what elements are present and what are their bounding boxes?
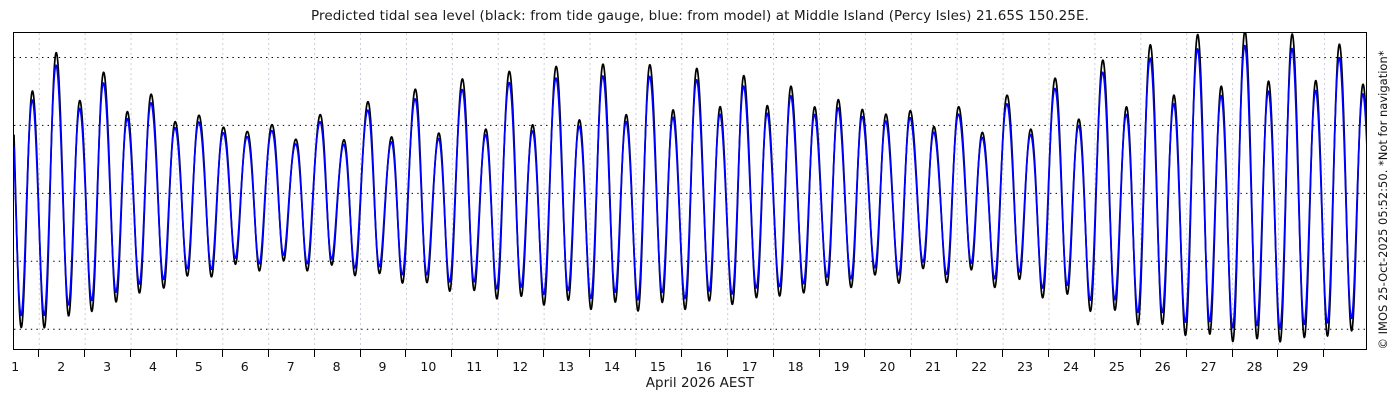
x-tick-mark xyxy=(956,350,957,357)
x-tick-label: 11 xyxy=(466,359,482,374)
x-tick-label: 4 xyxy=(149,359,157,374)
x-tick-mark xyxy=(635,350,636,357)
x-tick-mark xyxy=(1002,350,1003,357)
x-tick-mark xyxy=(1140,350,1141,357)
x-tick-label: 6 xyxy=(241,359,249,374)
x-tick-mark xyxy=(864,350,865,357)
x-tick-mark xyxy=(1323,350,1324,357)
x-tick-mark xyxy=(84,350,85,357)
x-tick-mark xyxy=(589,350,590,357)
tide-series-svg xyxy=(14,33,1366,349)
x-axis-title: April 2026 AEST xyxy=(0,375,1400,391)
plot-frame xyxy=(13,32,1367,350)
x-tick-mark xyxy=(543,350,544,357)
x-tick-label: 28 xyxy=(1247,359,1263,374)
x-tick-mark xyxy=(1094,350,1095,357)
x-tick-label: 5 xyxy=(195,359,203,374)
x-tick-label: 14 xyxy=(604,359,620,374)
x-tick-label: 12 xyxy=(512,359,528,374)
x-tick-label: 24 xyxy=(1063,359,1079,374)
x-tick-mark xyxy=(38,350,39,357)
x-tick-label: 3 xyxy=(103,359,111,374)
x-tick-mark xyxy=(268,350,269,357)
x-tick-label: 21 xyxy=(925,359,941,374)
copyright-notice: © IMOS 25-Oct-2025 05:52:50. *Not for na… xyxy=(1376,51,1390,350)
x-tick-mark xyxy=(360,350,361,357)
x-tick-label: 25 xyxy=(1109,359,1125,374)
x-tick-label: 15 xyxy=(650,359,666,374)
x-tick-label: 26 xyxy=(1155,359,1171,374)
x-tick-mark xyxy=(130,350,131,357)
x-tick-mark xyxy=(176,350,177,357)
x-tick-mark xyxy=(497,350,498,357)
x-tick-mark xyxy=(681,350,682,357)
x-tick-mark xyxy=(222,350,223,357)
x-tick-label: 23 xyxy=(1017,359,1033,374)
x-tick-mark xyxy=(819,350,820,357)
x-tick-label: 22 xyxy=(971,359,987,374)
x-tick-label: 2 xyxy=(57,359,65,374)
x-tick-mark xyxy=(1186,350,1187,357)
x-tick-label: 20 xyxy=(879,359,895,374)
page-title: Predicted tidal sea level (black: from t… xyxy=(0,8,1400,24)
x-tick-label: 16 xyxy=(696,359,712,374)
x-tick-mark xyxy=(1232,350,1233,357)
x-tick-mark xyxy=(1277,350,1278,357)
x-tick-mark xyxy=(773,350,774,357)
tidal-chart-page: Predicted tidal sea level (black: from t… xyxy=(0,0,1400,400)
x-tick-label: 10 xyxy=(420,359,436,374)
x-tick-label: 29 xyxy=(1292,359,1308,374)
plot-area xyxy=(14,33,1366,349)
x-tick-mark xyxy=(314,350,315,357)
x-tick-mark xyxy=(910,350,911,357)
x-tick-mark xyxy=(727,350,728,357)
x-tick-label: 8 xyxy=(333,359,341,374)
x-tick-mark xyxy=(451,350,452,357)
x-tick-label: 9 xyxy=(378,359,386,374)
x-tick-mark xyxy=(1048,350,1049,357)
x-tick-label: 13 xyxy=(558,359,574,374)
x-tick-label: 1 xyxy=(11,359,19,374)
x-tick-mark xyxy=(405,350,406,357)
x-tick-label: 7 xyxy=(287,359,295,374)
x-tick-label: 19 xyxy=(834,359,850,374)
x-tick-label: 27 xyxy=(1201,359,1217,374)
x-tick-label: 18 xyxy=(788,359,804,374)
x-tick-label: 17 xyxy=(742,359,758,374)
